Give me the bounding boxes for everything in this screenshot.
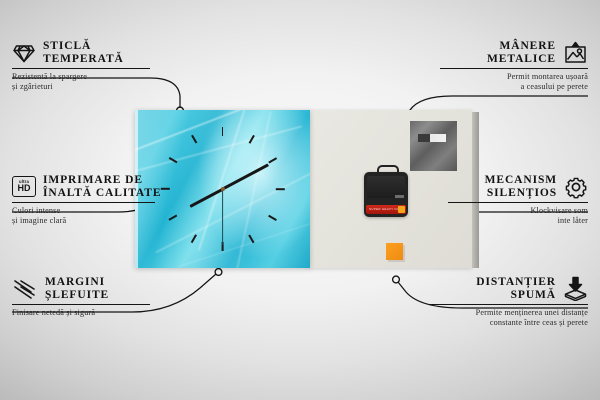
aa-battery: SUPER HEAVY DUTY — [366, 205, 406, 214]
callout-title-line1: MARGINI — [45, 276, 109, 289]
ultra-hd-badge-icon: ultra HD — [12, 176, 36, 197]
callout-title-line1: STICLĂ — [43, 40, 124, 53]
callout-subtitle-line1: Permite menținerea unei distanțe — [416, 308, 588, 318]
callout-title-line1: MECANISM — [485, 174, 557, 187]
callout-subtitle-line2: și zgârieturi — [12, 82, 162, 92]
callout-subtitle-line2: și imagine clară — [12, 216, 167, 226]
foam-spacer-pad — [386, 243, 403, 260]
diamond-icon — [12, 42, 36, 64]
callout-subtitle-line2: inte låter — [436, 216, 588, 226]
callout-title-line2: TEMPERATĂ — [43, 53, 124, 66]
metal-hanger-plate — [410, 121, 457, 171]
callout-silent-mechanism: MECANISM SILENȚIOS Klockvisare som inte … — [436, 174, 588, 226]
callout-title-line2: ȘLEFUITE — [45, 289, 109, 302]
callout-title-line1: IMPRIMARE DE — [43, 174, 161, 187]
clock-tick — [276, 188, 285, 190]
callout-tempered-glass: STICLĂ TEMPERATĂ Rezistentă la spargere … — [12, 40, 162, 92]
callout-divider — [12, 202, 155, 203]
wire-endpoint-foam-spacer — [393, 276, 400, 283]
callout-title-line2: ÎNALTĂ CALITATE — [43, 187, 161, 200]
callout-subtitle-line2: a ceasului pe perete — [428, 82, 588, 92]
callout-title-line1: DISTANȚIER — [476, 276, 556, 289]
battery-positive-terminal — [398, 206, 405, 213]
gear-icon — [564, 175, 588, 199]
callout-subtitle-line1: Permit montarea ușoară — [428, 72, 588, 82]
clock-movement: SUPER HEAVY DUTY — [364, 172, 408, 217]
hanger-slot — [418, 134, 446, 142]
callout-subtitle-line1: Finisare netedă și sigură — [12, 308, 162, 318]
callout-title-line1: MÂNERE — [487, 40, 556, 53]
callout-hd-print: ultra HD IMPRIMARE DE ÎNALTĂ CALITATE Cu… — [12, 174, 167, 226]
callout-divider — [428, 304, 588, 305]
callout-subtitle-line1: Klockvisare som — [436, 206, 588, 216]
wire-endpoint-polished-edges — [215, 269, 222, 276]
infographic-canvas: SUPER HEAVY DUTY — [0, 0, 600, 400]
callout-subtitle-line1: Rezistentă la spargere — [12, 72, 162, 82]
callout-title-line2: SILENȚIOS — [485, 187, 557, 200]
hanging-picture-icon — [563, 41, 588, 65]
callout-divider — [440, 68, 588, 69]
callout-title-line2: SPUMĂ — [476, 289, 556, 302]
diagonal-lines-icon — [12, 278, 38, 300]
callout-subtitle-line1: Culori intense — [12, 206, 167, 216]
callout-divider — [448, 202, 588, 203]
callout-metal-handles: MÂNERE METALICE Permit montarea ușoară a… — [428, 40, 588, 92]
callout-polished-edges: MARGINI ȘLEFUITE Finisare netedă și sigu… — [12, 276, 162, 318]
arrow-onto-pad-icon — [563, 276, 588, 301]
badge-large-text: HD — [18, 184, 31, 193]
callout-subtitle-line2: constante între ceas și perete — [416, 318, 588, 328]
callout-divider — [12, 68, 150, 69]
callout-foam-spacer: DISTANȚIER SPUMĂ Permite menținerea unei… — [416, 276, 588, 328]
clock-tick — [222, 127, 224, 136]
callout-title-line2: METALICE — [487, 53, 556, 66]
clock-center-cap — [221, 187, 225, 191]
callout-divider — [12, 304, 150, 305]
movement-hanger-loop — [377, 165, 399, 176]
movement-label — [395, 195, 404, 198]
clock-second-hand — [222, 189, 223, 245]
